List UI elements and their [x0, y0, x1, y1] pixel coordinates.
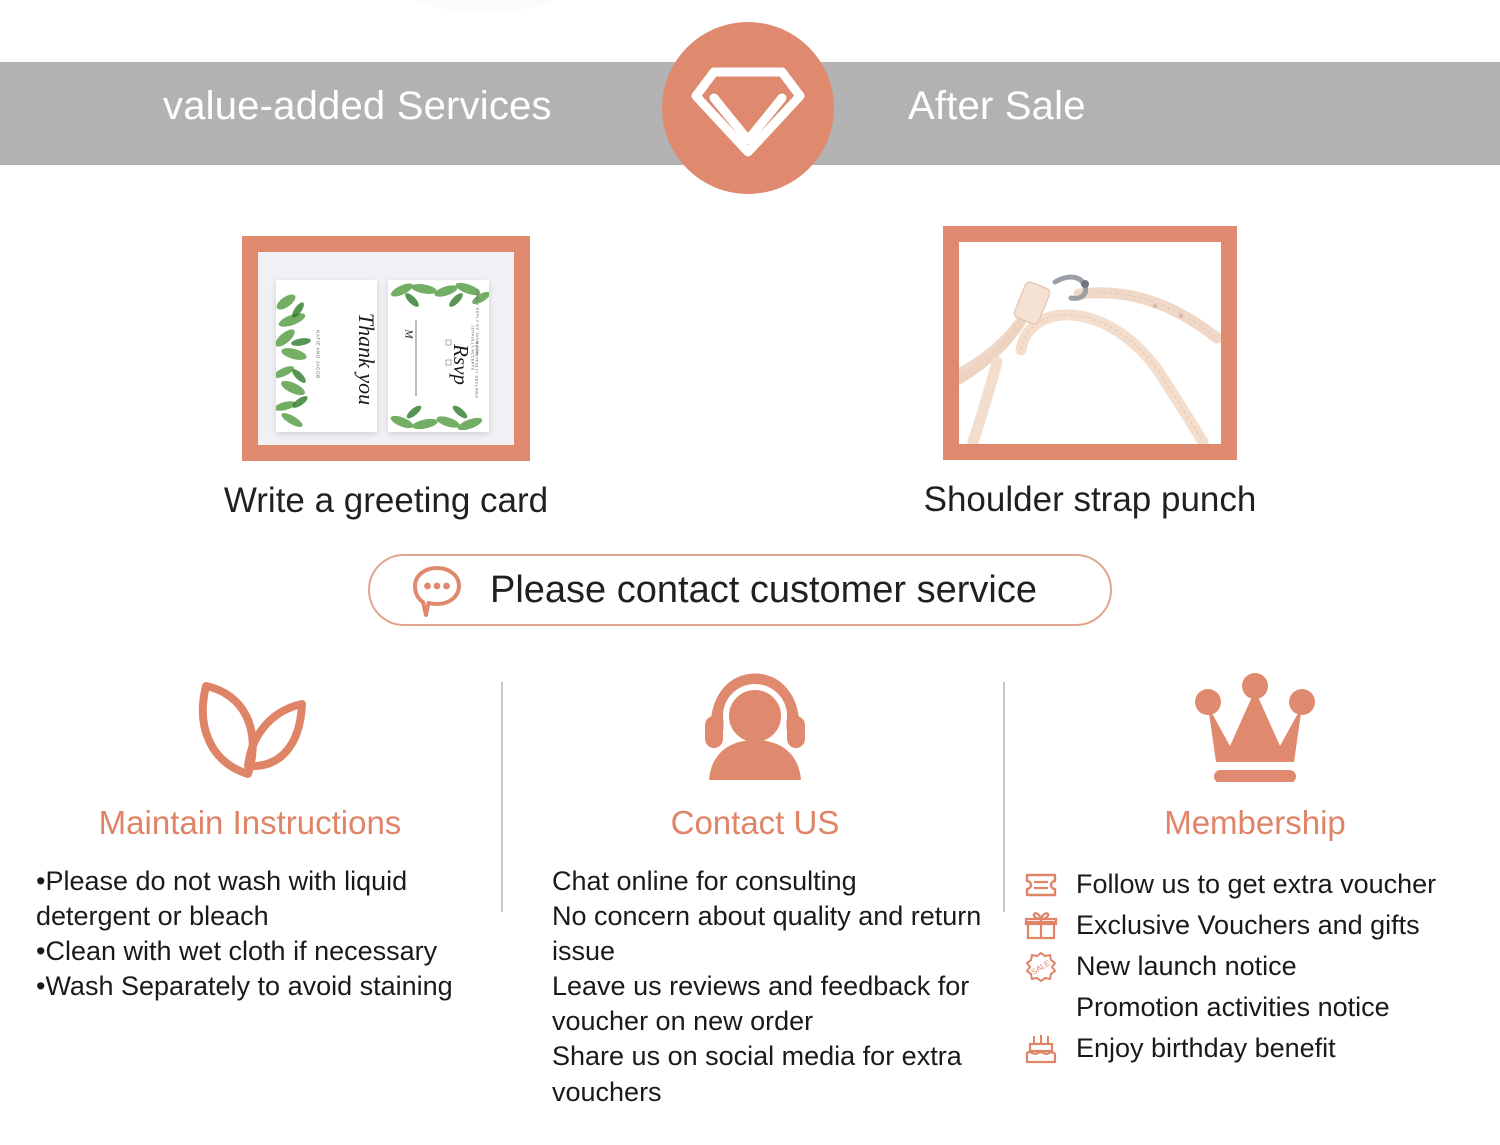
header-title-left: value-added Services [163, 84, 552, 129]
greeting-card-rsvp-m: M [403, 329, 415, 338]
chat-bubble-icon [408, 561, 466, 619]
membership-item-label: Exclusive Vouchers and gifts [1076, 908, 1420, 943]
column-membership: Membership Follow us to get extra vouche… [1020, 670, 1490, 1069]
greeting-card-rsvp-text: Rsvp [448, 344, 473, 385]
column-divider-2 [1003, 682, 1005, 912]
shoulder-strap-scene [959, 242, 1221, 444]
maintain-line: •Clean with wet cloth if necessary [36, 934, 490, 969]
shoulder-strap-caption: Shoulder strap punch [870, 480, 1310, 520]
gift-icon [1020, 907, 1062, 945]
greeting-card-image-frame: Thank you KATIE AND JACOB [242, 236, 530, 461]
column-title-maintain: Maintain Instructions [10, 804, 490, 842]
header-title-right: After Sale [908, 84, 1086, 129]
greeting-card-thank-you-text: Thank you [353, 313, 377, 405]
maintain-line: •Please do not wash with liquid detergen… [36, 864, 490, 934]
birthday-cake-icon [1020, 1030, 1062, 1068]
greeting-card-thank-you-sub: KATIE AND JACOB [316, 330, 321, 378]
membership-item-label: New launch notice [1076, 949, 1297, 984]
contact-pill-label: Please contact customer service [490, 569, 1037, 612]
contact-line: No concern about quality and return issu… [552, 899, 985, 969]
sale-badge-icon: SALE [1020, 948, 1062, 986]
greeting-card-rsvp: Rsvp M KINDLY REPLY BY JUNE 5TH JOYFULLY… [388, 280, 489, 432]
top-section-remnant [410, 0, 560, 12]
contact-us-list: Chat online for consulting No concern ab… [525, 864, 985, 1110]
maintain-line: •Wash Separately to avoid staining [36, 969, 490, 1004]
contact-line: Share us on social media for extra vouch… [552, 1039, 985, 1109]
column-title-contact: Contact US [525, 804, 985, 842]
two-leaves-icon [10, 670, 490, 782]
membership-item: SALE New launch notice [1020, 946, 1490, 987]
product-greeting-card: Thank you KATIE AND JACOB [196, 236, 576, 521]
product-shoulder-strap: Shoulder strap punch [870, 226, 1310, 520]
contact-line: Chat online for consulting [552, 864, 985, 899]
membership-item-label: Promotion activities notice [1076, 990, 1390, 1025]
ticket-icon [1020, 866, 1062, 904]
greeting-card-caption: Write a greeting card [196, 481, 576, 521]
membership-item-label: Follow us to get extra voucher [1076, 867, 1436, 902]
svg-text:SALE: SALE [1030, 958, 1052, 976]
contact-line: Leave us reviews and feedback for vouche… [552, 969, 985, 1039]
membership-item: Exclusive Vouchers and gifts [1020, 905, 1490, 946]
membership-item: Enjoy birthday benefit [1020, 1028, 1490, 1069]
no-icon-placeholder [1020, 989, 1062, 1027]
diamond-v-logo-icon [688, 52, 808, 164]
maintain-instructions-list: •Please do not wash with liquid detergen… [10, 864, 490, 1004]
membership-item: Follow us to get extra voucher [1020, 864, 1490, 905]
brand-logo-badge [662, 22, 834, 194]
column-divider-1 [501, 682, 503, 912]
contact-customer-service-button[interactable]: Please contact customer service [368, 554, 1112, 626]
membership-benefits: Follow us to get extra voucher Exclusive… [1020, 864, 1490, 1069]
headset-agent-icon [525, 670, 985, 782]
crown-icon [1020, 670, 1490, 782]
greeting-card-thank-you: Thank you KATIE AND JACOB [276, 280, 377, 432]
membership-item-label: Enjoy birthday benefit [1076, 1031, 1336, 1066]
greeting-card-rsvp-option-2: REGRETFULLY DECLINES [474, 342, 478, 399]
membership-item: Promotion activities notice [1020, 987, 1490, 1028]
greeting-card-scene: Thank you KATIE AND JACOB [258, 252, 514, 445]
shoulder-strap-image-frame [943, 226, 1237, 460]
column-maintain-instructions: Maintain Instructions •Please do not was… [10, 670, 490, 1004]
column-contact-us: Contact US Chat online for consulting No… [525, 670, 985, 1110]
column-title-membership: Membership [1020, 804, 1490, 842]
